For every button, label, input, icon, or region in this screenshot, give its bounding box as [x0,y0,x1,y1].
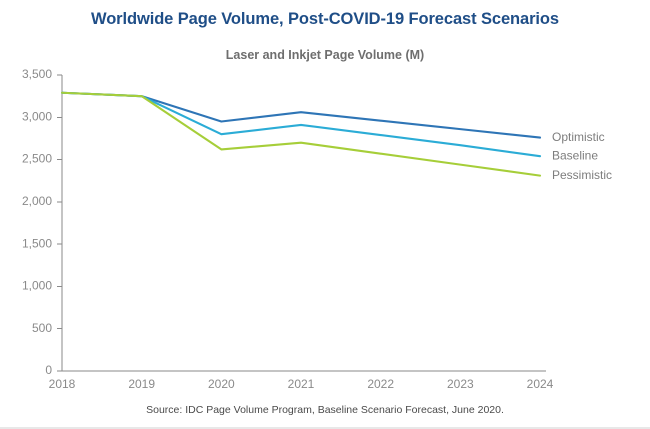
x-tick-label: 2021 [288,377,315,391]
series-line-pessimistic [62,93,540,176]
chart-container: Worldwide Page Volume, Post-COVID-19 For… [0,0,650,429]
y-axis: 05001,0001,5002,0002,5003,0003,500 [22,67,62,377]
y-tick-label: 3,000 [22,109,52,123]
series-label-baseline: Baseline [552,148,598,162]
y-tick-label: 1,500 [22,236,52,250]
series-label-optimistic: Optimistic [552,130,605,144]
y-tick-label: 2,000 [22,194,52,208]
series-line-baseline [62,93,540,156]
y-tick-label: 0 [45,363,52,377]
series-labels: OptimisticBaselinePessimistic [552,130,612,182]
x-tick-label: 2018 [49,377,76,391]
source-note: Source: IDC Page Volume Program, Baselin… [0,404,650,416]
y-tick-label: 1,000 [22,279,52,293]
series-label-pessimistic: Pessimistic [552,168,612,182]
y-tick-label: 2,500 [22,152,52,166]
x-axis: 2018201920202021202220232024 [49,371,554,391]
x-tick-label: 2022 [367,377,394,391]
line-chart-plot: 05001,0001,5002,0002,5003,0003,500 20182… [0,0,650,400]
series-line-optimistic [62,93,540,138]
data-series-group [62,93,540,176]
y-tick-label: 500 [32,321,52,335]
x-tick-label: 2023 [447,377,474,391]
x-tick-label: 2020 [208,377,235,391]
x-tick-label: 2019 [128,377,155,391]
y-tick-label: 3,500 [22,67,52,81]
x-tick-label: 2024 [527,377,554,391]
